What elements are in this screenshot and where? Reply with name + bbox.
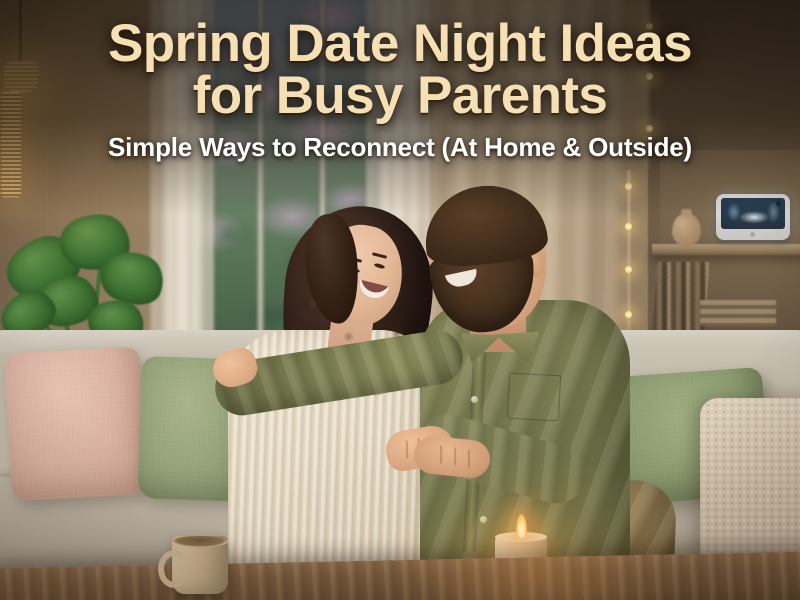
shirt-button bbox=[480, 516, 487, 523]
finger-line bbox=[406, 440, 408, 458]
monitor-camera-dot bbox=[776, 201, 781, 206]
text-overlay: Spring Date Night Ideas for Busy Parents… bbox=[0, 18, 800, 162]
finger-line bbox=[440, 446, 442, 464]
light-bulb-icon bbox=[624, 182, 633, 191]
coffee-mug bbox=[172, 536, 228, 594]
mug-rim bbox=[172, 536, 228, 547]
finger-line bbox=[468, 450, 470, 468]
finger-line bbox=[454, 447, 456, 465]
light-bulb-icon bbox=[624, 310, 633, 319]
subtitle: Simple Ways to Reconnect (At Home & Outs… bbox=[0, 132, 800, 162]
page-title: Spring Date Night Ideas for Busy Parents bbox=[0, 18, 800, 122]
baby-monitor bbox=[716, 194, 790, 240]
baby-monitor-screen bbox=[721, 198, 785, 229]
blush-pillow bbox=[4, 347, 147, 502]
shirt-pocket bbox=[507, 373, 561, 422]
light-bulb-icon bbox=[624, 222, 633, 231]
shirt-button bbox=[471, 396, 478, 403]
headline-line-2: for Busy Parents bbox=[0, 70, 800, 122]
mug-handle bbox=[158, 550, 190, 588]
headline-line-1: Spring Date Night Ideas bbox=[108, 14, 692, 73]
shelf-board bbox=[652, 244, 800, 255]
stacked-books bbox=[700, 300, 776, 326]
poster-image: Spring Date Night Ideas for Busy Parents… bbox=[0, 0, 800, 600]
monitor-button bbox=[750, 232, 755, 237]
vase bbox=[672, 214, 701, 246]
light-bulb-icon bbox=[624, 265, 633, 274]
pillow-texture bbox=[4, 347, 147, 502]
